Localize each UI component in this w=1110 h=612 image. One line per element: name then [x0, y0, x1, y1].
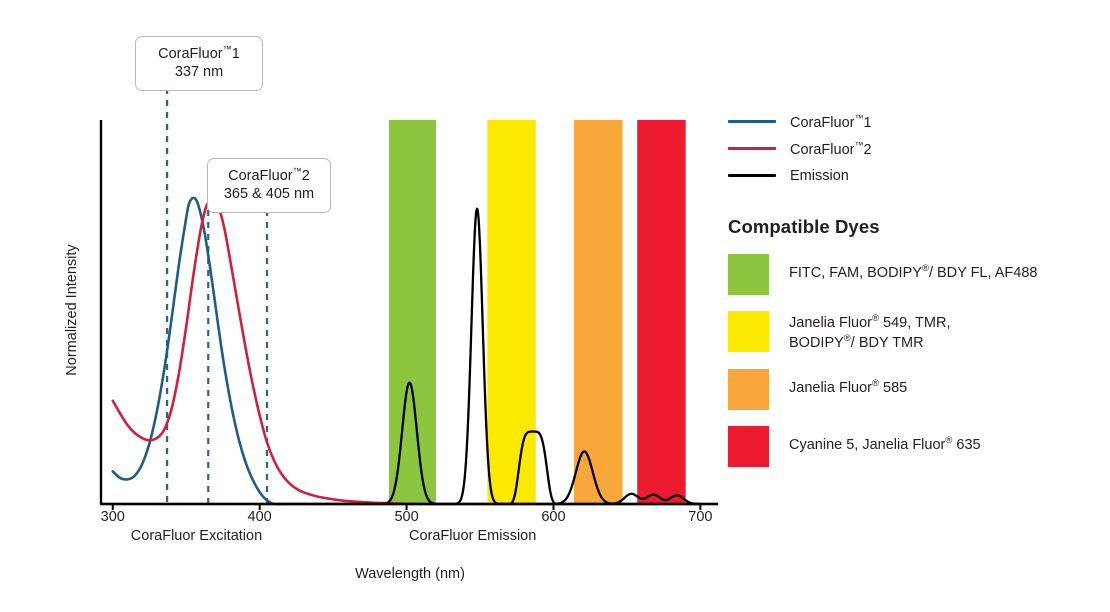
emission-filter-bands	[389, 120, 686, 504]
dye-label: Cyanine 5, Janelia Fluor® 635	[789, 426, 981, 455]
spectral-chart-figure: CoraFluor™1 337 nm CoraFluor™2 365 & 405…	[0, 0, 1110, 612]
x-axis-tick-label: 600	[523, 509, 583, 525]
dye-label: FITC, FAM, BODIPY®/ BDY FL, AF488	[789, 254, 1037, 283]
legend-row: Emission	[728, 162, 1100, 189]
callout-cf1-value: 337 nm	[148, 63, 250, 82]
registered-symbol: ®	[872, 313, 879, 324]
callout-corafluor-1: CoraFluor™1 337 nm	[135, 36, 263, 91]
dye-label-line: FITC, FAM, BODIPY®/ BDY FL, AF488	[789, 263, 1037, 283]
callout-cf2-title: CoraFluor™2	[220, 166, 318, 185]
legend-label-suffix: 1	[863, 114, 871, 130]
dye-label-text: BODIPY	[789, 335, 844, 351]
trademark-symbol: ™	[223, 44, 232, 54]
dye-label-text: / BDY FL, AF488	[929, 265, 1038, 281]
callout-corafluor-2: CoraFluor™2 365 & 405 nm	[207, 158, 331, 213]
trademark-symbol: ™	[293, 166, 302, 176]
dye-label-text: 635	[952, 437, 980, 453]
registered-symbol: ®	[844, 333, 851, 344]
dye-row: Cyanine 5, Janelia Fluor® 635	[728, 426, 1100, 467]
legend-row: CoraFluor™1	[728, 108, 1100, 135]
legend-label: CoraFluor™2	[790, 140, 872, 158]
dye-color-swatch	[728, 426, 769, 467]
callout-cf1-title: CoraFluor™1	[148, 44, 250, 63]
dye-label-text: FITC, FAM, BODIPY	[789, 265, 922, 281]
x-axis-tick-label: 700	[670, 509, 730, 525]
dye-label: Janelia Fluor® 585	[789, 369, 907, 398]
x-axis-tick-label: 400	[230, 509, 290, 525]
dye-label-text: Cyanine 5, Janelia Fluor	[789, 437, 945, 453]
dye-row: FITC, FAM, BODIPY®/ BDY FL, AF488	[728, 254, 1100, 295]
emission-band	[389, 120, 436, 504]
x-axis-title: Wavelength (nm)	[0, 566, 820, 582]
legend-line-swatch	[728, 147, 776, 150]
emission-band	[637, 120, 685, 504]
dye-label-line: Janelia Fluor® 549, TMR,	[789, 313, 950, 333]
dye-label-text: / BDY TMR	[851, 335, 924, 351]
section-label-emission: CoraFluor Emission	[373, 528, 573, 544]
callout-cf2-value: 365 & 405 nm	[220, 185, 318, 204]
section-label-excitation: CoraFluor Excitation	[96, 528, 296, 544]
x-axis-tick-label: 300	[83, 509, 143, 525]
dye-label-text: 549, TMR,	[879, 315, 950, 331]
dye-label-line: Cyanine 5, Janelia Fluor® 635	[789, 435, 981, 455]
dye-color-swatch	[728, 311, 769, 352]
compatible-dyes-heading: Compatible Dyes	[728, 216, 1100, 238]
registered-symbol: ®	[922, 263, 929, 274]
dye-row: Janelia Fluor® 585	[728, 369, 1100, 410]
registered-symbol: ®	[872, 378, 879, 389]
y-axis-title: Normalized Intensity	[64, 220, 80, 400]
legend-label: CoraFluor™1	[790, 113, 872, 131]
dye-label-line: Janelia Fluor® 585	[789, 378, 907, 398]
legend-label-suffix: 2	[863, 141, 871, 157]
legend-label-text: Emission	[790, 168, 849, 184]
emission-band	[574, 120, 622, 504]
legend-line-swatch	[728, 120, 776, 123]
chart-legend-panel: CoraFluor™1CoraFluor™2Emission Compatibl…	[728, 108, 1100, 483]
dye-label-line: BODIPY®/ BDY TMR	[789, 333, 950, 353]
dye-label: Janelia Fluor® 549, TMR,BODIPY®/ BDY TMR	[789, 311, 950, 353]
x-axis-tick-label: 500	[377, 509, 437, 525]
dye-label-text: Janelia Fluor	[789, 380, 872, 396]
dye-label-text: 585	[879, 380, 907, 396]
emission-band	[487, 120, 535, 504]
legend-label-text: CoraFluor	[790, 141, 854, 157]
dye-color-swatch	[728, 254, 769, 295]
legend-label-text: CoraFluor	[790, 114, 854, 130]
dye-color-swatch	[728, 369, 769, 410]
compatible-dyes-list: FITC, FAM, BODIPY®/ BDY FL, AF488Janelia…	[728, 254, 1100, 467]
legend-line-swatch	[728, 174, 776, 177]
legend-label: Emission	[790, 168, 849, 184]
legend-row: CoraFluor™2	[728, 135, 1100, 162]
dye-label-text: Janelia Fluor	[789, 315, 872, 331]
series-legend: CoraFluor™1CoraFluor™2Emission	[728, 108, 1100, 189]
excitation-marker-lines	[167, 88, 267, 504]
dye-row: Janelia Fluor® 549, TMR,BODIPY®/ BDY TMR	[728, 311, 1100, 353]
